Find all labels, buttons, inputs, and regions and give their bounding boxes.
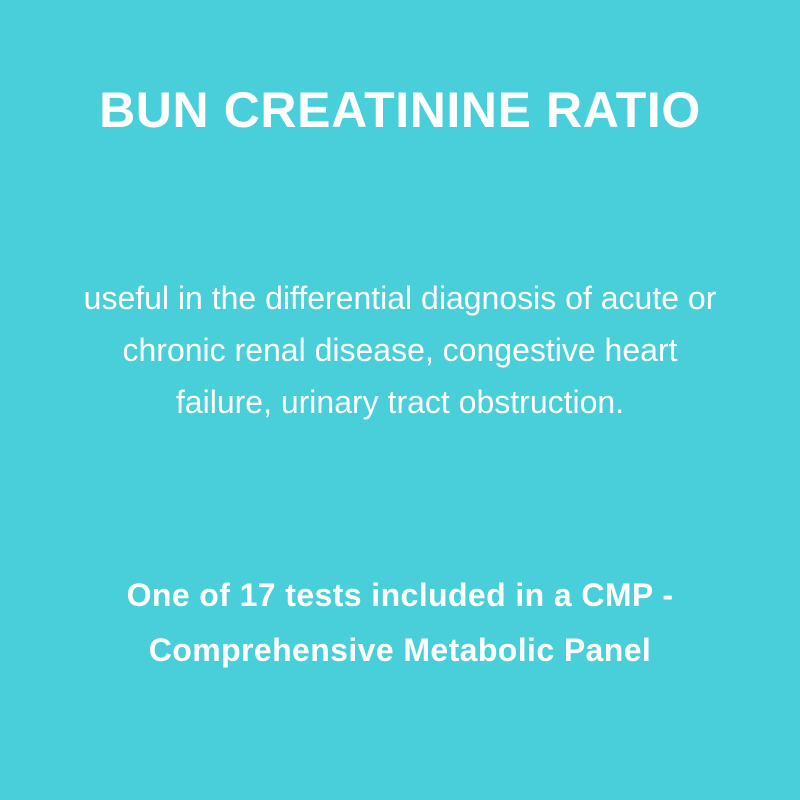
page-title: BUN CREATININE RATIO xyxy=(86,74,714,146)
info-card: BUN CREATININE RATIO useful in the diffe… xyxy=(0,0,800,800)
panel-note-block: One of 17 tests included in a CMP - Comp… xyxy=(0,568,800,678)
title-block: BUN CREATININE RATIO xyxy=(0,74,800,146)
panel-note-text: One of 17 tests included in a CMP - Comp… xyxy=(78,568,722,678)
description-text: useful in the differential diagnosis of … xyxy=(80,272,720,428)
description-block: useful in the differential diagnosis of … xyxy=(0,272,800,428)
